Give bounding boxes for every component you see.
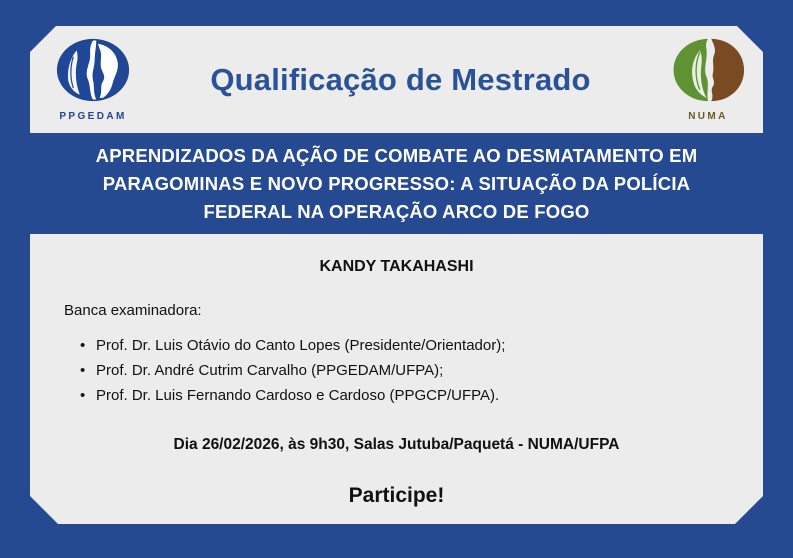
thesis-title-line-1: APRENDIZADOS DA AÇÃO DE COMBATE AO DESMA… (30, 142, 763, 170)
numa-logo-block: NUMA (667, 37, 749, 122)
ppgedam-logo-block: PPGEDAM (52, 37, 134, 122)
ppgedam-logo-caption: PPGEDAM (59, 111, 126, 122)
bullet-icon: • (80, 358, 85, 383)
header-title: Qualificação de Mestrado (140, 62, 661, 98)
thesis-title-line-2: PARAGOMINAS E NOVO PROGRESSO: A SITUAÇÃO… (30, 170, 763, 198)
committee-list: • Prof. Dr. Luis Otávio do Canto Lopes (… (64, 333, 729, 408)
list-item: • Prof. Dr. André Cutrim Carvalho (PPGED… (80, 358, 729, 383)
list-item: • Prof. Dr. Luis Otávio do Canto Lopes (… (80, 333, 729, 358)
bullet-icon: • (80, 333, 85, 358)
committee-label: Banca examinadora: (64, 302, 729, 319)
body-panel: KANDY TAKAHASHI Banca examinadora: • Pro… (30, 234, 763, 524)
numa-logo-caption: NUMA (688, 111, 728, 122)
committee-member-name: Prof. Dr. Luis Fernando Cardoso e Cardos… (96, 387, 499, 404)
numa-logo-icon (667, 37, 749, 108)
committee-member-name: Prof. Dr. Luis Otávio do Canto Lopes (Pr… (96, 337, 505, 354)
thesis-title-line-3: FEDERAL NA OPERAÇÃO ARCO DE FOGO (30, 198, 763, 226)
header-panel: PPGEDAM Qualificação de Mestrado NUMA (30, 26, 763, 133)
committee-member-name: Prof. Dr. André Cutrim Carvalho (PPGEDAM… (96, 362, 443, 379)
ppgedam-logo-icon (52, 37, 134, 108)
thesis-title: APRENDIZADOS DA AÇÃO DE COMBATE AO DESMA… (30, 142, 763, 226)
bullet-icon: • (80, 383, 85, 408)
author-name: KANDY TAKAHASHI (64, 258, 729, 276)
list-item: • Prof. Dr. Luis Fernando Cardoso e Card… (80, 383, 729, 408)
event-details: Dia 26/02/2026, às 9h30, Salas Jutuba/Pa… (64, 436, 729, 454)
call-to-action: Participe! (64, 484, 729, 508)
